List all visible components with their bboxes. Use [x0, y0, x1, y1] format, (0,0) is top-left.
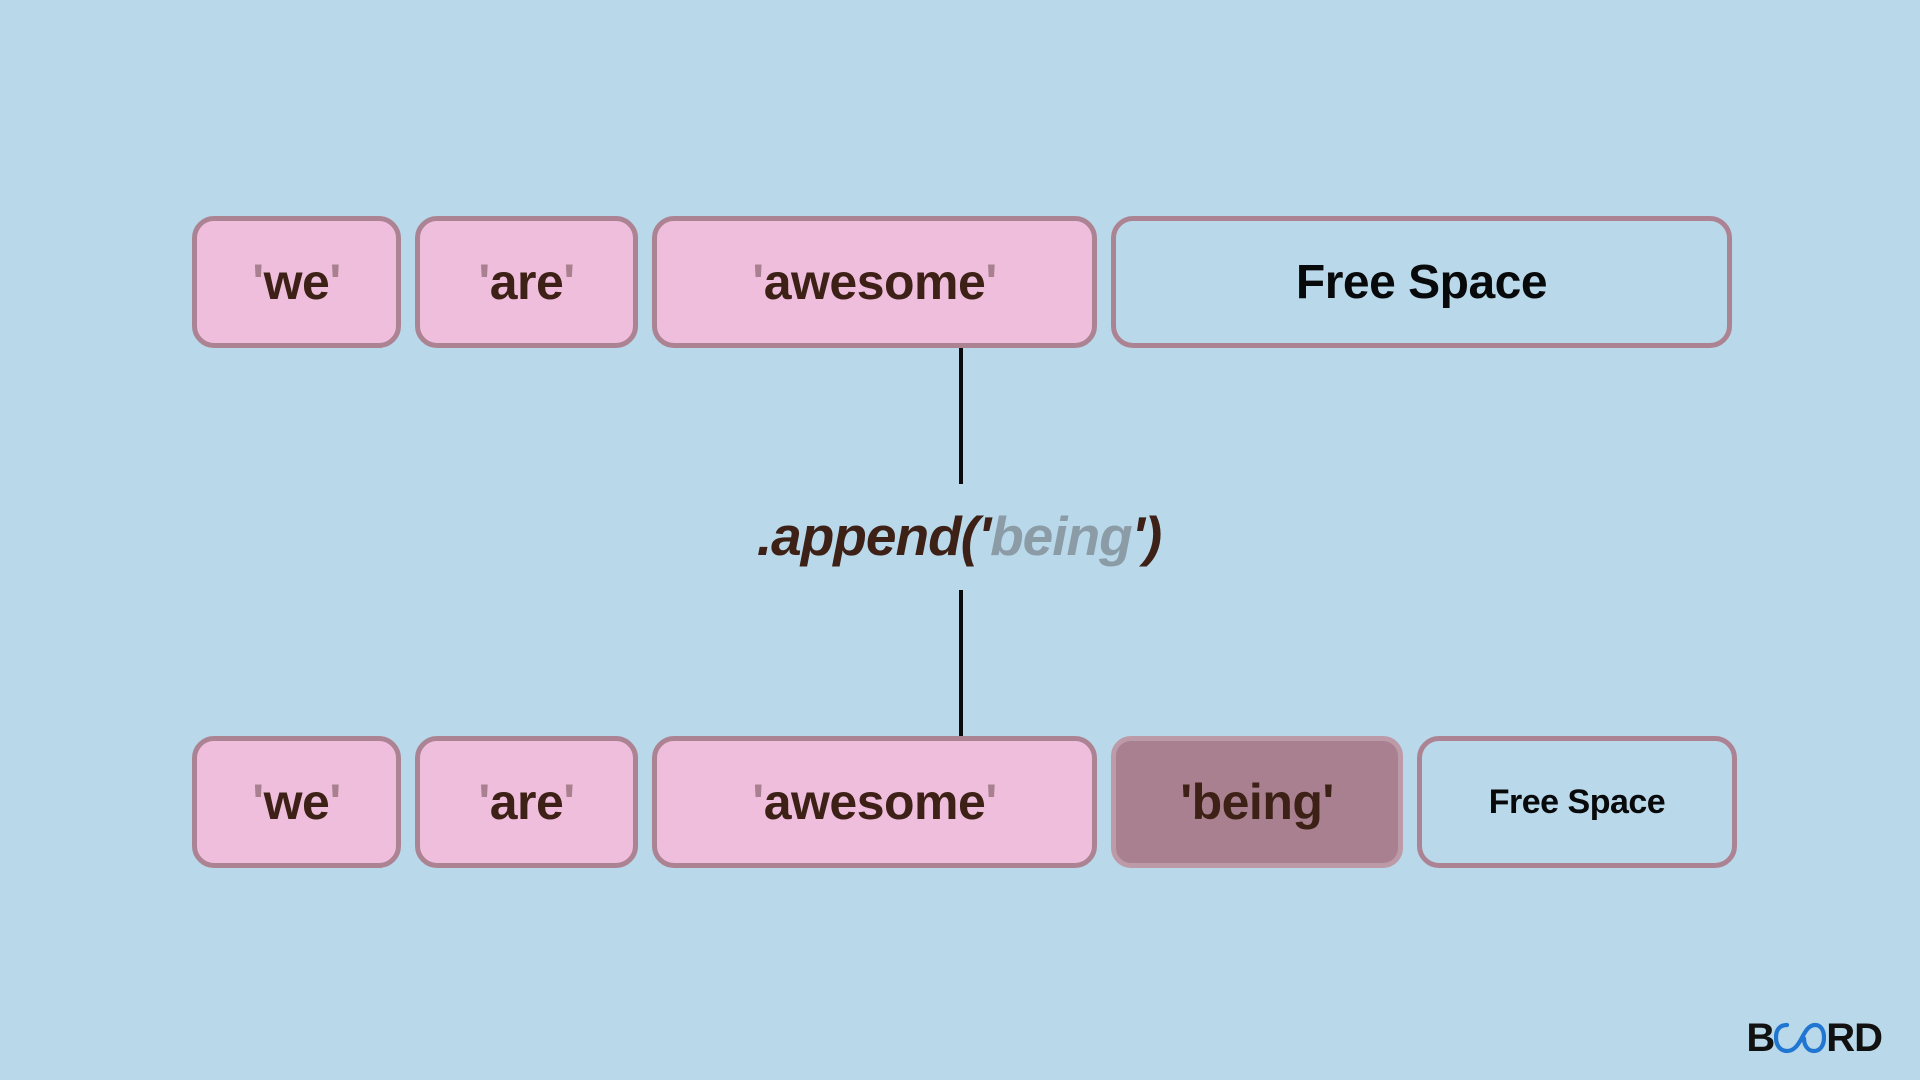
- quote-open-icon: ': [752, 774, 763, 830]
- quote-open-icon: ': [252, 254, 263, 310]
- list-cell-are-after: 'are': [415, 736, 638, 868]
- quote-close-icon: ': [329, 254, 340, 310]
- quote-close-icon: ': [985, 774, 996, 830]
- token-text: awesome: [764, 254, 986, 310]
- token-label-are-before: 'are': [478, 253, 574, 311]
- list-row-after: 'we' 'are' 'awesome' 'being' Free Space: [192, 736, 1737, 868]
- diagram-canvas: 'we' 'are' 'awesome' Free Space .append(…: [0, 0, 1920, 1080]
- token-label-we-before: 'we': [252, 253, 340, 311]
- quote-open-icon: ': [1180, 774, 1191, 830]
- board-logo-wordmark: B RD: [1746, 1016, 1882, 1061]
- token-label-are-after: 'are': [478, 773, 574, 831]
- token-text: are: [490, 254, 564, 310]
- quote-open-icon: ': [252, 774, 263, 830]
- quote-open-icon: ': [752, 254, 763, 310]
- list-cell-are-before: 'are': [415, 216, 638, 348]
- token-label-awesome-after: 'awesome': [752, 773, 996, 831]
- connector-line-bottom: [959, 590, 963, 736]
- quote-close-icon: ': [985, 254, 996, 310]
- quote-close-icon: ': [1322, 774, 1333, 830]
- token-label-awesome-before: 'awesome': [752, 253, 996, 311]
- board-logo-tail-text: RD: [1826, 1016, 1882, 1061]
- free-space-label: Free Space: [1489, 783, 1665, 822]
- token-text: we: [264, 254, 330, 310]
- quote-open-icon: ': [478, 254, 489, 310]
- append-operation-label: .append('being'): [757, 504, 1161, 568]
- quote-close-icon: ': [563, 254, 574, 310]
- connector-line-top: [959, 348, 963, 484]
- token-label-being-after: 'being': [1180, 773, 1334, 831]
- append-prefix: .append(': [757, 505, 990, 567]
- quote-open-icon: ': [478, 774, 489, 830]
- free-space-label: Free Space: [1296, 255, 1547, 310]
- list-cell-free-space-before: Free Space: [1111, 216, 1732, 348]
- board-logo: B RD: [1746, 1014, 1882, 1062]
- infinity-oa-mark-icon: [1774, 1021, 1826, 1055]
- list-cell-we-before: 'we': [192, 216, 401, 348]
- token-text: are: [490, 774, 564, 830]
- board-logo-lead-text: B: [1746, 1016, 1774, 1061]
- token-label-we-after: 'we': [252, 773, 340, 831]
- quote-close-icon: ': [563, 774, 574, 830]
- list-row-before: 'we' 'are' 'awesome' Free Space: [192, 216, 1732, 348]
- list-cell-free-space-after: Free Space: [1417, 736, 1737, 868]
- token-text: awesome: [764, 774, 986, 830]
- token-text: being: [1192, 774, 1323, 830]
- quote-close-icon: ': [329, 774, 340, 830]
- token-text: we: [264, 774, 330, 830]
- list-cell-awesome-before: 'awesome': [652, 216, 1097, 348]
- list-cell-we-after: 'we': [192, 736, 401, 868]
- append-argument: being: [990, 505, 1132, 567]
- append-suffix: '): [1132, 505, 1161, 567]
- list-cell-being-after: 'being': [1111, 736, 1403, 868]
- list-cell-awesome-after: 'awesome': [652, 736, 1097, 868]
